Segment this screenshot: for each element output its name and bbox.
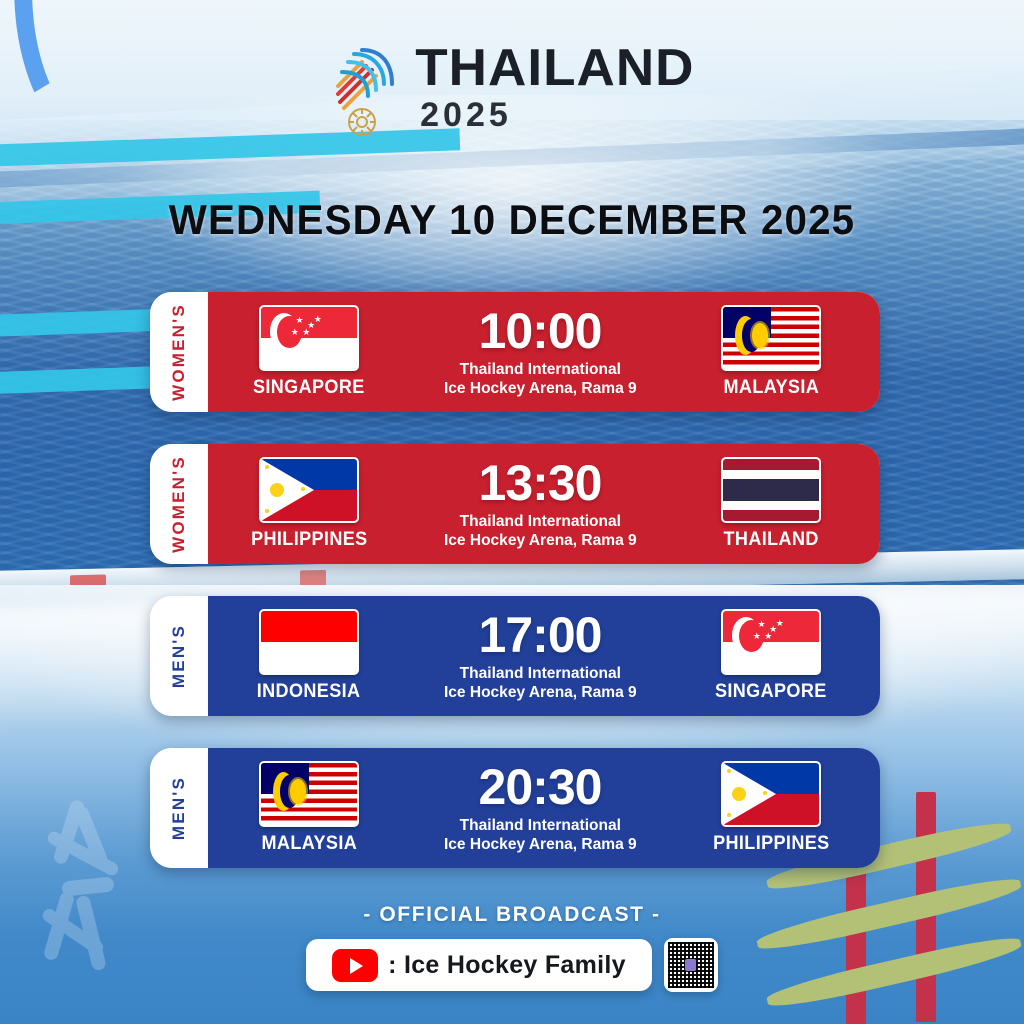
home-team: MALAYSIA	[214, 761, 404, 855]
category-label: WOMEN'S	[169, 455, 189, 553]
match-time: 13:30	[479, 458, 602, 508]
youtube-channel-button[interactable]: : Ice Hockey Family	[306, 939, 652, 991]
category-tab: MEN'S	[150, 748, 208, 868]
match-info: 10:00 Thailand International Ice Hockey …	[404, 306, 676, 398]
malaysia-flag-icon	[721, 305, 821, 371]
match-card[interactable]: WOMEN'S ★ ★ ★ ★ ★ SINGAPORE 10:	[150, 292, 880, 412]
venue-line-1: Thailand International	[444, 513, 637, 531]
venue-line-1: Thailand International	[444, 361, 637, 379]
logo-svg	[332, 42, 402, 138]
category-tab: WOMEN'S	[150, 444, 208, 564]
match-card[interactable]: MEN'S MALAYSIA 20:30 Thailand Internatio…	[150, 748, 880, 868]
match-venue: Thailand International Ice Hockey Arena,…	[444, 665, 637, 702]
page-title: WEDNESDAY 10 DECEMBER 2025	[20, 196, 1003, 244]
indonesia-flag-icon	[259, 609, 359, 675]
logo-title: THAILAND	[415, 42, 694, 94]
match-info: 17:00 Thailand International Ice Hockey …	[404, 610, 676, 702]
category-label: MEN'S	[169, 776, 189, 840]
match-info: 13:30 Thailand International Ice Hockey …	[404, 458, 676, 550]
singapore-flag-icon: ★ ★ ★ ★ ★	[259, 305, 359, 371]
home-team-name: MALAYSIA	[261, 833, 357, 855]
away-team: THAILAND	[676, 457, 866, 551]
category-tab: MEN'S	[150, 596, 208, 716]
channel-label: : Ice Hockey Family	[388, 951, 626, 980]
home-team: INDONESIA	[214, 609, 404, 703]
match-list: WOMEN'S ★ ★ ★ ★ ★ SINGAPORE 10:	[150, 292, 880, 900]
venue-line-1: Thailand International	[444, 817, 637, 835]
away-team-name: THAILAND	[723, 529, 818, 551]
singapore-flag-icon: ★ ★ ★ ★ ★	[721, 609, 821, 675]
category-label: WOMEN'S	[169, 303, 189, 401]
away-team-name: SINGAPORE	[715, 681, 827, 703]
event-logo: THAILAND 2025	[0, 42, 1024, 138]
philippines-flag-icon	[259, 457, 359, 523]
match-body: INDONESIA 17:00 Thailand International I…	[208, 596, 880, 716]
match-body: ★ ★ ★ ★ ★ SINGAPORE 10:00 Thailand Inter…	[208, 292, 880, 412]
away-team-name: PHILIPPINES	[713, 833, 830, 855]
venue-line-2: Ice Hockey Arena, Rama 9	[444, 684, 637, 702]
match-info: 20:30 Thailand International Ice Hockey …	[404, 762, 676, 854]
category-label: MEN'S	[169, 624, 189, 688]
home-team: PHILIPPINES	[214, 457, 404, 551]
sea-games-ribbon-logo-icon	[332, 42, 402, 138]
match-venue: Thailand International Ice Hockey Arena,…	[444, 513, 637, 550]
qr-code-icon[interactable]	[664, 938, 718, 992]
match-body: PHILIPPINES 13:30 Thailand International…	[208, 444, 880, 564]
home-team-name: PHILIPPINES	[251, 529, 368, 551]
venue-line-1: Thailand International	[444, 665, 637, 683]
match-body: MALAYSIA 20:30 Thailand International Ic…	[208, 748, 880, 868]
away-team: ★ ★ ★ ★ ★ SINGAPORE	[676, 609, 866, 703]
venue-line-2: Ice Hockey Arena, Rama 9	[444, 380, 637, 398]
category-tab: WOMEN'S	[150, 292, 208, 412]
match-venue: Thailand International Ice Hockey Arena,…	[444, 361, 637, 398]
away-team: MALAYSIA	[676, 305, 866, 399]
match-time: 17:00	[479, 610, 602, 660]
away-team: PHILIPPINES	[676, 761, 866, 855]
malaysia-flag-icon	[259, 761, 359, 827]
logo-year: 2025	[420, 98, 512, 132]
philippines-flag-icon	[721, 761, 821, 827]
match-card[interactable]: WOMEN'S PHILIPPINES 13:30 Tha	[150, 444, 880, 564]
thailand-flag-icon	[721, 457, 821, 523]
match-time: 10:00	[479, 306, 602, 356]
logo-wordmark: THAILAND 2025	[418, 42, 692, 132]
venue-line-2: Ice Hockey Arena, Rama 9	[444, 532, 637, 550]
match-time: 20:30	[479, 762, 602, 812]
home-team: ★ ★ ★ ★ ★ SINGAPORE	[214, 305, 404, 399]
match-venue: Thailand International Ice Hockey Arena,…	[444, 817, 637, 854]
broadcast-heading: - OFFICIAL BROADCAST -	[0, 903, 1024, 927]
away-team-name: MALAYSIA	[723, 377, 819, 399]
broadcast-row: : Ice Hockey Family	[0, 938, 1024, 992]
match-card[interactable]: MEN'S INDONESIA 17:00 Thailand Internati…	[150, 596, 880, 716]
youtube-icon	[332, 949, 378, 982]
schedule-poster: THAILAND 2025 WEDNESDAY 10 DECEMBER 2025…	[0, 0, 1024, 1024]
home-team-name: INDONESIA	[257, 681, 361, 703]
home-team-name: SINGAPORE	[253, 377, 365, 399]
venue-line-2: Ice Hockey Arena, Rama 9	[444, 836, 637, 854]
